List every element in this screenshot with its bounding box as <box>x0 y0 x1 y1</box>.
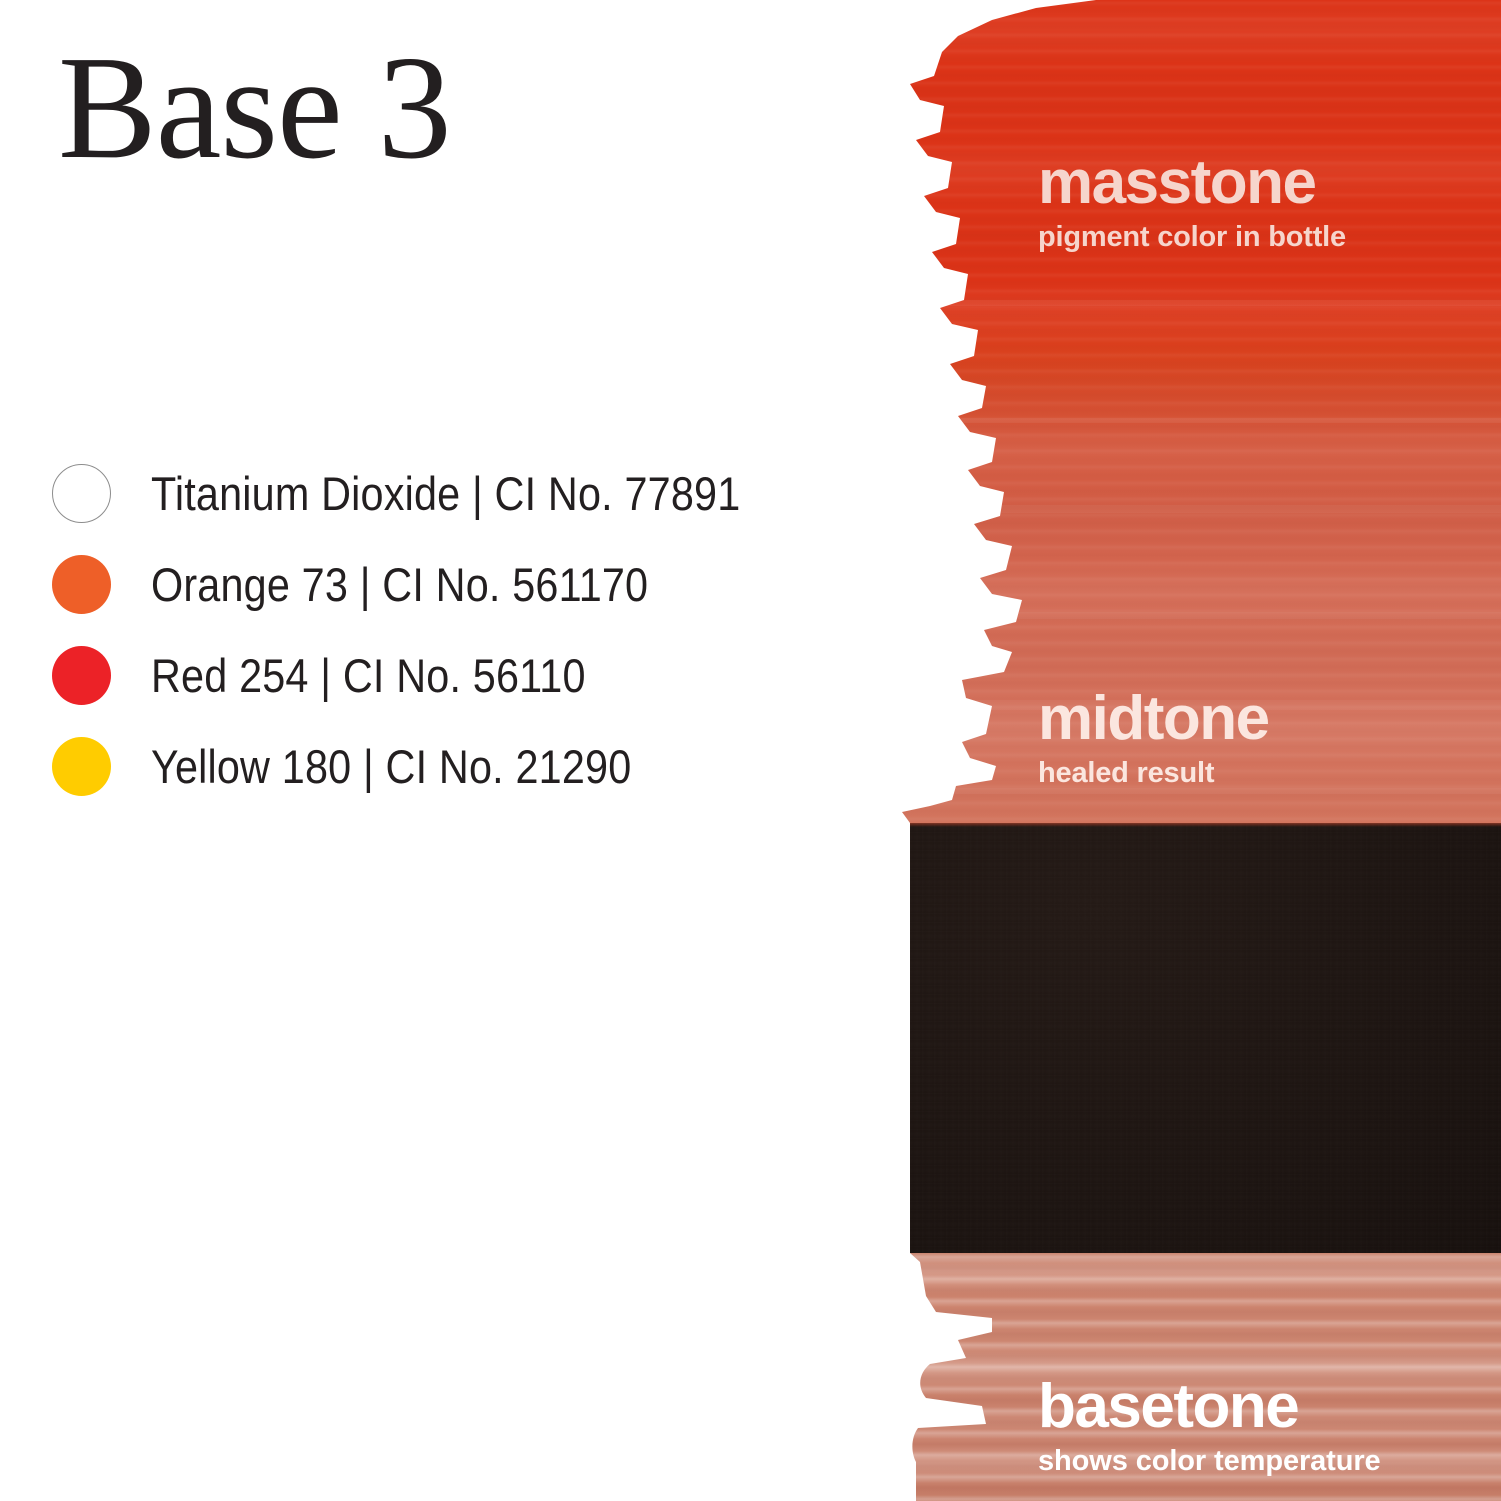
list-item: Yellow 180 | CI No. 21290 <box>52 721 872 812</box>
list-item: Red 254 | CI No. 56110 <box>52 630 872 721</box>
list-item: Titanium Dioxide | CI No. 77891 <box>52 448 872 539</box>
masstone-label-group: masstone pigment color in bottle <box>1038 152 1346 252</box>
masstone-subtitle: pigment color in bottle <box>1038 223 1346 252</box>
info-panel: Base 3 Titanium Dioxide | CI No. 77891 O… <box>0 0 900 1501</box>
midtone-label-group: midtone healed result <box>1038 688 1269 788</box>
midtone-title: midtone <box>1038 688 1269 750</box>
pigment-label: Orange 73 | CI No. 561170 <box>151 561 648 608</box>
pigment-swatch-yellow-180 <box>52 737 111 796</box>
midtone-subtitle: healed result <box>1038 759 1269 788</box>
basetone-label-group: basetone shows color temperature <box>1038 1376 1381 1476</box>
pigment-label: Red 254 | CI No. 56110 <box>151 652 586 699</box>
pigment-label: Yellow 180 | CI No. 21290 <box>151 743 631 790</box>
pigment-label: Titanium Dioxide | CI No. 77891 <box>151 470 740 517</box>
pigment-swatch-red-254 <box>52 646 111 705</box>
paint-swatch-column: masstone pigment color in bottle midtone… <box>896 0 1501 1501</box>
masstone-title: masstone <box>1038 152 1346 214</box>
basetone-subtitle: shows color temperature <box>1038 1447 1381 1476</box>
black-band-texture <box>910 823 1501 1253</box>
pigment-swatch-titanium-dioxide <box>52 464 111 523</box>
black-drawdown-band <box>910 823 1501 1253</box>
list-item: Orange 73 | CI No. 561170 <box>52 539 872 630</box>
page-title: Base 3 <box>58 34 451 182</box>
pigment-list: Titanium Dioxide | CI No. 77891 Orange 7… <box>52 448 872 812</box>
basetone-title: basetone <box>1038 1376 1381 1438</box>
pigment-swatch-orange-73 <box>52 555 111 614</box>
swatch-card: Base 3 Titanium Dioxide | CI No. 77891 O… <box>0 0 1501 1501</box>
